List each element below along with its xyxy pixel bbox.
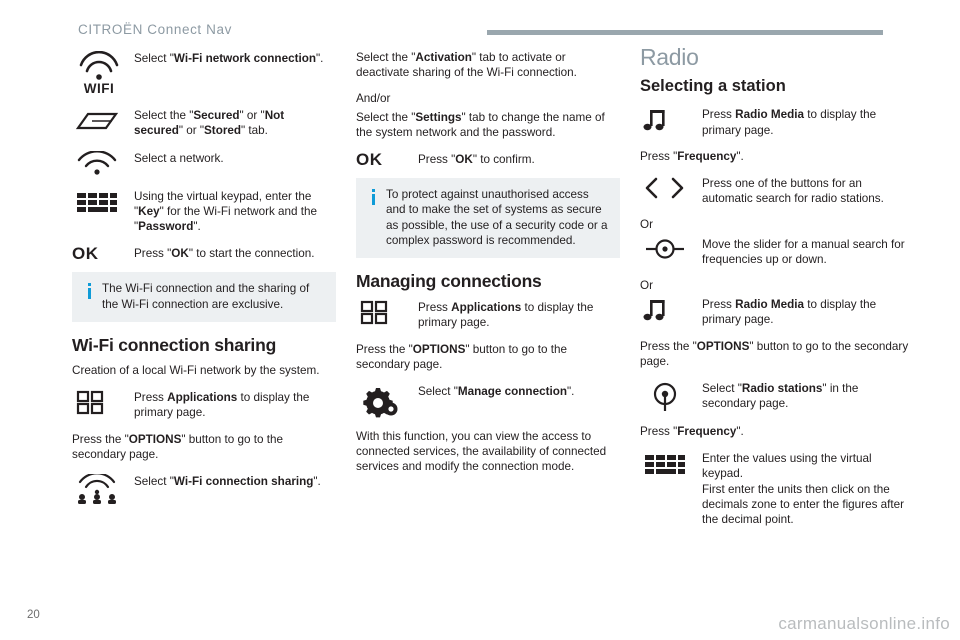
row-virtual-keypad: Using the virtual keypad, enter the "Key…: [72, 188, 336, 235]
page-title-radio: Radio: [640, 50, 912, 65]
column-three: Radio Selecting a station Press Radio Me…: [640, 50, 912, 538]
note-text: To protect against unauthorised access a…: [380, 187, 610, 248]
keypad-icon: [72, 188, 134, 215]
row-text: Select "Wi-Fi connection sharing".: [134, 473, 336, 489]
header-rule: [487, 30, 883, 35]
manual-page: CITROËN Connect Nav WIFI Select "Wi-Fi n…: [0, 0, 960, 640]
paragraph-connection-mode: With this function, you can view the acc…: [356, 429, 620, 475]
page-number: 20: [27, 609, 40, 621]
row-wifi-network-connection: WIFI Select "Wi-Fi network connection".: [72, 50, 336, 96]
settings-gear-icon: [356, 383, 418, 418]
row-text: Press Applications to display the primar…: [134, 389, 336, 420]
row-select-network: Select a network.: [72, 150, 336, 177]
row-applications-primary-page: Press Applications to display the primar…: [356, 299, 620, 330]
row-text: Enter the values using the virtual keypa…: [702, 450, 912, 527]
wifi-sharing-icon: [72, 473, 134, 504]
paragraph-or-1: Or: [640, 217, 912, 232]
row-text: Press "OK" to start the connection.: [134, 245, 336, 261]
paragraph-settings-tab: Select the "Settings" tab to change the …: [356, 110, 620, 140]
paragraph-or-2: Or: [640, 278, 912, 293]
row-applications-primary-page: Press Applications to display the primar…: [72, 389, 336, 420]
music-note-icon: [640, 296, 702, 323]
ok-icon: OK: [356, 151, 418, 167]
paragraph-options-button: Press the "OPTIONS" button to go to the …: [356, 342, 620, 372]
row-text: Press Radio Media to display the primary…: [702, 296, 912, 327]
row-enter-values-keypad: Enter the values using the virtual keypa…: [640, 450, 912, 527]
section-heading-managing-connections: Managing connections: [356, 274, 620, 289]
paragraph-press-frequency-1: Press "Frequency".: [640, 149, 912, 164]
applications-grid-icon: [72, 389, 134, 416]
info-icon: [82, 281, 96, 311]
row-ok-confirm: OK Press "OK" to confirm.: [356, 151, 620, 167]
paragraph-options-button: Press the "OPTIONS" button to go to the …: [72, 432, 336, 462]
info-icon: [366, 187, 380, 248]
paragraph-local-network: Creation of a local Wi-Fi network by the…: [72, 363, 336, 378]
column-two: Select the "Activation" tab to activate …: [356, 50, 620, 486]
section-heading-wifi-sharing: Wi-Fi connection sharing: [72, 338, 336, 353]
note-text: The Wi-Fi connection and the sharing of …: [96, 281, 326, 311]
row-radio-stations: Select "Radio stations" in the secondary…: [640, 380, 912, 413]
column-one: WIFI Select "Wi-Fi network connection". …: [72, 50, 336, 515]
ok-icon: OK: [72, 245, 134, 261]
row-text: Select "Manage connection".: [418, 383, 620, 399]
paragraph-options-button: Press the "OPTIONS" button to go to the …: [640, 339, 912, 369]
row-manual-slider: Move the slider for a manual search for …: [640, 236, 912, 267]
row-text: Using the virtual keypad, enter the "Key…: [134, 188, 336, 235]
paragraph-press-frequency-2: Press "Frequency".: [640, 424, 912, 439]
row-text: Press "OK" to confirm.: [418, 151, 620, 167]
row-text: Select the "Secured" or "Not secured" or…: [134, 107, 336, 138]
left-right-arrows-icon: [640, 175, 702, 200]
row-manage-connection: Select "Manage connection".: [356, 383, 620, 418]
applications-grid-icon: [356, 299, 418, 326]
row-text: Press Radio Media to display the primary…: [702, 106, 912, 137]
section-heading-selecting-station: Selecting a station: [640, 79, 912, 94]
paragraph-and-or: And/or: [356, 91, 620, 106]
paragraph-activation-tab: Select the "Activation" tab to activate …: [356, 50, 620, 80]
radio-antenna-icon: [640, 380, 702, 413]
row-text: Select "Radio stations" in the secondary…: [702, 380, 912, 411]
keypad-icon: [640, 450, 702, 477]
info-note-wifi-exclusive: The Wi-Fi connection and the sharing of …: [72, 272, 336, 321]
wifi-signal-icon: [72, 150, 134, 177]
page-brand-title: CITROËN Connect Nav: [78, 22, 232, 37]
site-watermark: carmanualsonline.info: [778, 614, 950, 634]
music-note-icon: [640, 106, 702, 133]
wifi-text-label: WIFI: [72, 81, 126, 96]
row-text: Move the slider for a manual search for …: [702, 236, 912, 267]
row-text: Select a network.: [134, 150, 336, 166]
row-text: Press one of the buttons for an automati…: [702, 175, 912, 206]
slider-knob-icon: [640, 236, 702, 261]
row-text: Select "Wi-Fi network connection".: [134, 50, 336, 66]
row-ok-start-connection: OK Press "OK" to start the connection.: [72, 245, 336, 261]
row-text: Press Applications to display the primar…: [418, 299, 620, 330]
row-secured-tab: Select the "Secured" or "Not secured" or…: [72, 107, 336, 138]
secured-network-icon: [72, 107, 134, 134]
row-radio-media-primary-2: Press Radio Media to display the primary…: [640, 296, 912, 327]
row-radio-media-primary-1: Press Radio Media to display the primary…: [640, 106, 912, 137]
row-wifi-connection-sharing: Select "Wi-Fi connection sharing".: [72, 473, 336, 504]
info-note-security: To protect against unauthorised access a…: [356, 178, 620, 258]
wifi-label-icon: WIFI: [72, 50, 134, 96]
row-auto-search-arrows: Press one of the buttons for an automati…: [640, 175, 912, 206]
